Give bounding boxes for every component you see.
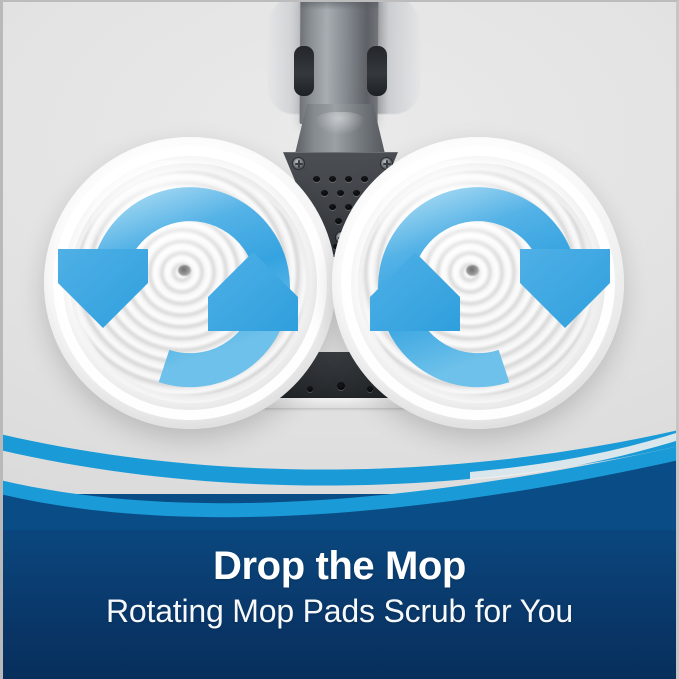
caption-text-block: Drop the Mop Rotating Mop Pads Scrub for… — [0, 494, 679, 679]
right-pad-rotation-arrow-icon — [332, 137, 624, 429]
handle-slot-right — [367, 46, 387, 96]
subheadline: Rotating Mop Pads Scrub for You — [106, 593, 573, 630]
headline: Drop the Mop — [213, 544, 466, 589]
left-pad-rotation-arrow-icon — [44, 137, 336, 429]
product-banner: Drop the Mop Rotating Mop Pads Scrub for… — [0, 0, 679, 679]
handle-slot-left — [294, 46, 314, 96]
right-mop-pad — [332, 137, 624, 429]
left-mop-pad — [44, 137, 336, 429]
